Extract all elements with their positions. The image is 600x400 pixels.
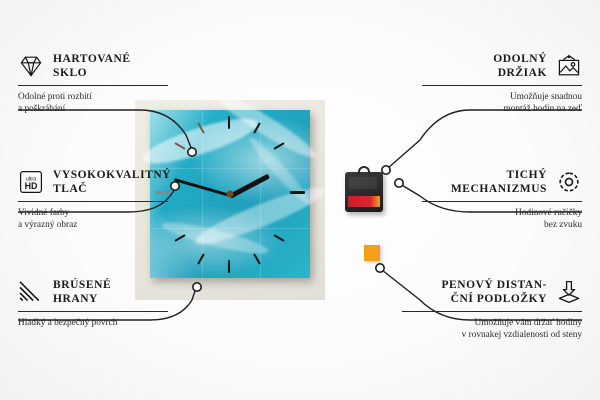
feature-header: ODOLNÝ DRŽIAK bbox=[422, 52, 582, 80]
feature-polished-edges: BRÚSENÉ HRANY Hladký a bezpečný povrch bbox=[18, 278, 168, 329]
clock-tick bbox=[197, 253, 205, 264]
glass-grid-line bbox=[260, 110, 261, 278]
feature-desc-line2: montáž hodin na zeď bbox=[422, 103, 582, 115]
feature-title-line1: TICHÝ bbox=[451, 168, 547, 182]
feature-title-line1: ODOLNÝ bbox=[493, 52, 547, 66]
mechanism-label bbox=[349, 177, 377, 189]
feature-header: HARTOVANÉ SKLO bbox=[18, 52, 168, 80]
feature-foam-spacers: PENOVÝ DISTAN- ČNÍ PODLOŽKY Umožňuje vám… bbox=[402, 278, 582, 341]
feature-title-line2: HRANY bbox=[53, 292, 111, 306]
feature-title-line2: DRŽIAK bbox=[493, 66, 547, 80]
feature-high-quality-print: ultra HD VYSOKOKVALITNÝ TLAČ Vividné far… bbox=[18, 168, 168, 231]
divider bbox=[18, 201, 168, 202]
connector-dot-6 bbox=[376, 264, 384, 272]
foam-spacer-icon bbox=[556, 280, 582, 304]
feature-desc-line1: Vividné farby bbox=[18, 207, 168, 219]
feature-desc-line2: a výrazný obraz bbox=[18, 219, 168, 231]
wall-clock-face bbox=[150, 110, 310, 278]
clock-hub bbox=[227, 191, 234, 198]
polished-edges-icon bbox=[18, 280, 44, 304]
feature-title-line1: PENOVÝ DISTAN- bbox=[441, 278, 547, 292]
feature-header: PENOVÝ DISTAN- ČNÍ PODLOŽKY bbox=[402, 278, 582, 306]
battery bbox=[348, 196, 380, 207]
feature-desc-line2: bez zvuku bbox=[422, 219, 582, 231]
clock-tick bbox=[228, 116, 230, 129]
feature-durable-hanger: ODOLNÝ DRŽIAK Umožňuje snadnou montáž ho… bbox=[422, 52, 582, 115]
clock-tick bbox=[290, 191, 305, 194]
divider bbox=[422, 85, 582, 86]
feature-desc-line2: a poškrábání bbox=[18, 103, 168, 115]
divider bbox=[422, 201, 582, 202]
feature-desc-line1: Hodinové ručičky bbox=[422, 207, 582, 219]
feature-desc-line1: Umožňuje vám držať hodiny bbox=[402, 317, 582, 329]
connector-line-4 bbox=[388, 110, 582, 168]
gear-icon bbox=[556, 170, 582, 194]
glass-grid-line bbox=[150, 228, 310, 229]
feature-title-line1: BRÚSENÉ bbox=[53, 278, 111, 292]
feature-header: ultra HD VYSOKOKVALITNÝ TLAČ bbox=[18, 168, 168, 196]
clock-mechanism bbox=[345, 172, 383, 212]
clock-tick bbox=[273, 234, 284, 242]
feature-header: TICHÝ MECHANIZMUS bbox=[422, 168, 582, 196]
ultra-hd-badge-icon: ultra HD bbox=[18, 170, 44, 194]
diamond-icon bbox=[18, 54, 44, 78]
feature-tempered-glass: HARTOVANÉ SKLO Odolné proti rozbití a po… bbox=[18, 52, 168, 115]
divider bbox=[18, 311, 168, 312]
feature-title-line2: SKLO bbox=[53, 66, 131, 80]
clock-tick bbox=[174, 234, 185, 242]
feature-desc-line2: v rovnakej vzdialenosti od steny bbox=[402, 329, 582, 341]
divider bbox=[402, 311, 582, 312]
divider bbox=[18, 85, 168, 86]
clock-hour-hand bbox=[229, 174, 270, 199]
feature-silent-mechanism: TICHÝ MECHANIZMUS Hodinové ručičky bez z… bbox=[422, 168, 582, 231]
feature-title-line2: MECHANIZMUS bbox=[451, 182, 547, 196]
connector-dot-5 bbox=[395, 179, 403, 187]
feature-header: BRÚSENÉ HRANY bbox=[18, 278, 168, 306]
feature-title-line1: HARTOVANÉ bbox=[53, 52, 131, 66]
feature-desc-line1: Hladký a bezpečný povrch bbox=[18, 317, 168, 329]
mechanism-hook-icon bbox=[358, 166, 370, 174]
connector-dot-4 bbox=[382, 166, 390, 174]
clock-tick bbox=[228, 260, 230, 273]
feature-title-line1: VYSOKOKVALITNÝ bbox=[53, 168, 171, 182]
svg-text:HD: HD bbox=[25, 181, 38, 191]
feature-desc-line1: Odolné proti rozbití bbox=[18, 91, 168, 103]
foam-spacer-pad bbox=[364, 245, 380, 261]
infographic-canvas: HARTOVANÉ SKLO Odolné proti rozbití a po… bbox=[0, 0, 600, 400]
feature-title-line2: ČNÍ PODLOŽKY bbox=[441, 292, 547, 306]
feature-desc-line1: Umožňuje snadnou bbox=[422, 91, 582, 103]
picture-hanger-icon bbox=[556, 54, 582, 78]
feature-title-line2: TLAČ bbox=[53, 182, 171, 196]
glass-grid-line bbox=[150, 168, 310, 169]
